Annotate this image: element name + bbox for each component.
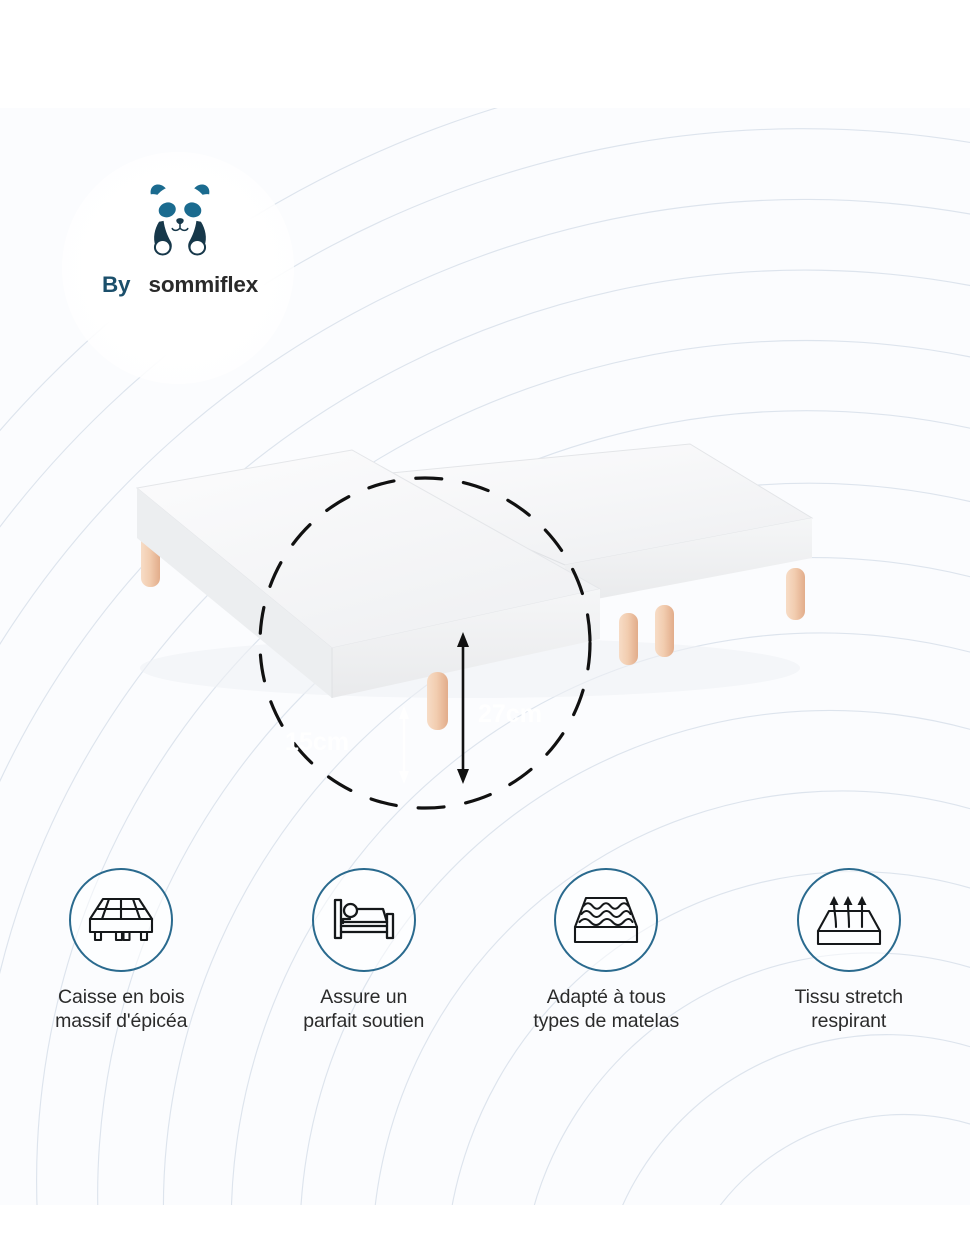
dimension-total-height-label: 27cm — [478, 700, 542, 728]
person-in-bed-icon — [329, 892, 399, 948]
dimension-leg-height: 15cm — [285, 706, 409, 784]
feature-icon-circle — [69, 868, 173, 972]
feature-item-support: Assure un parfait soutien — [243, 868, 486, 1058]
feature-icon-circle — [797, 868, 901, 972]
bed-base-illustration: 27cm 15cm — [0, 400, 970, 860]
feature-item-wood-base: Caisse en bois massif d'épicéa — [0, 868, 243, 1058]
feature-item-breathable: Tissu stretch respirant — [728, 868, 970, 1058]
product-infographic: By sommiflex — [0, 0, 970, 1253]
feature-item-mattress-compat: Adapté à tous types de matelas — [485, 868, 728, 1058]
mattress-waves-icon — [571, 891, 641, 949]
top-white-band — [0, 0, 970, 108]
feature-icon-circle — [312, 868, 416, 972]
feature-label: Adapté à tous types de matelas — [485, 985, 728, 1033]
brand-name: sommiflex — [149, 272, 259, 297]
mattress-breathable-arrows-icon — [814, 889, 884, 951]
slatted-wood-base-icon — [86, 889, 156, 951]
brand-logo: By sommiflex — [95, 178, 265, 318]
feature-label: Caisse en bois massif d'épicéa — [0, 985, 243, 1033]
dimension-leg-height-label: 15cm — [285, 728, 349, 756]
feature-icon-circle — [554, 868, 658, 972]
feature-label: Tissu stretch respirant — [728, 985, 970, 1033]
bottom-white-band — [0, 1205, 970, 1253]
brand-wordmark: By sommiflex — [95, 272, 265, 298]
panda-logo-icon — [134, 178, 226, 260]
feature-list: Caisse en bois massif d'épicéa Assure un… — [0, 868, 970, 1058]
feature-label: Assure un parfait soutien — [243, 985, 486, 1033]
brand-prefix: By — [102, 272, 130, 297]
